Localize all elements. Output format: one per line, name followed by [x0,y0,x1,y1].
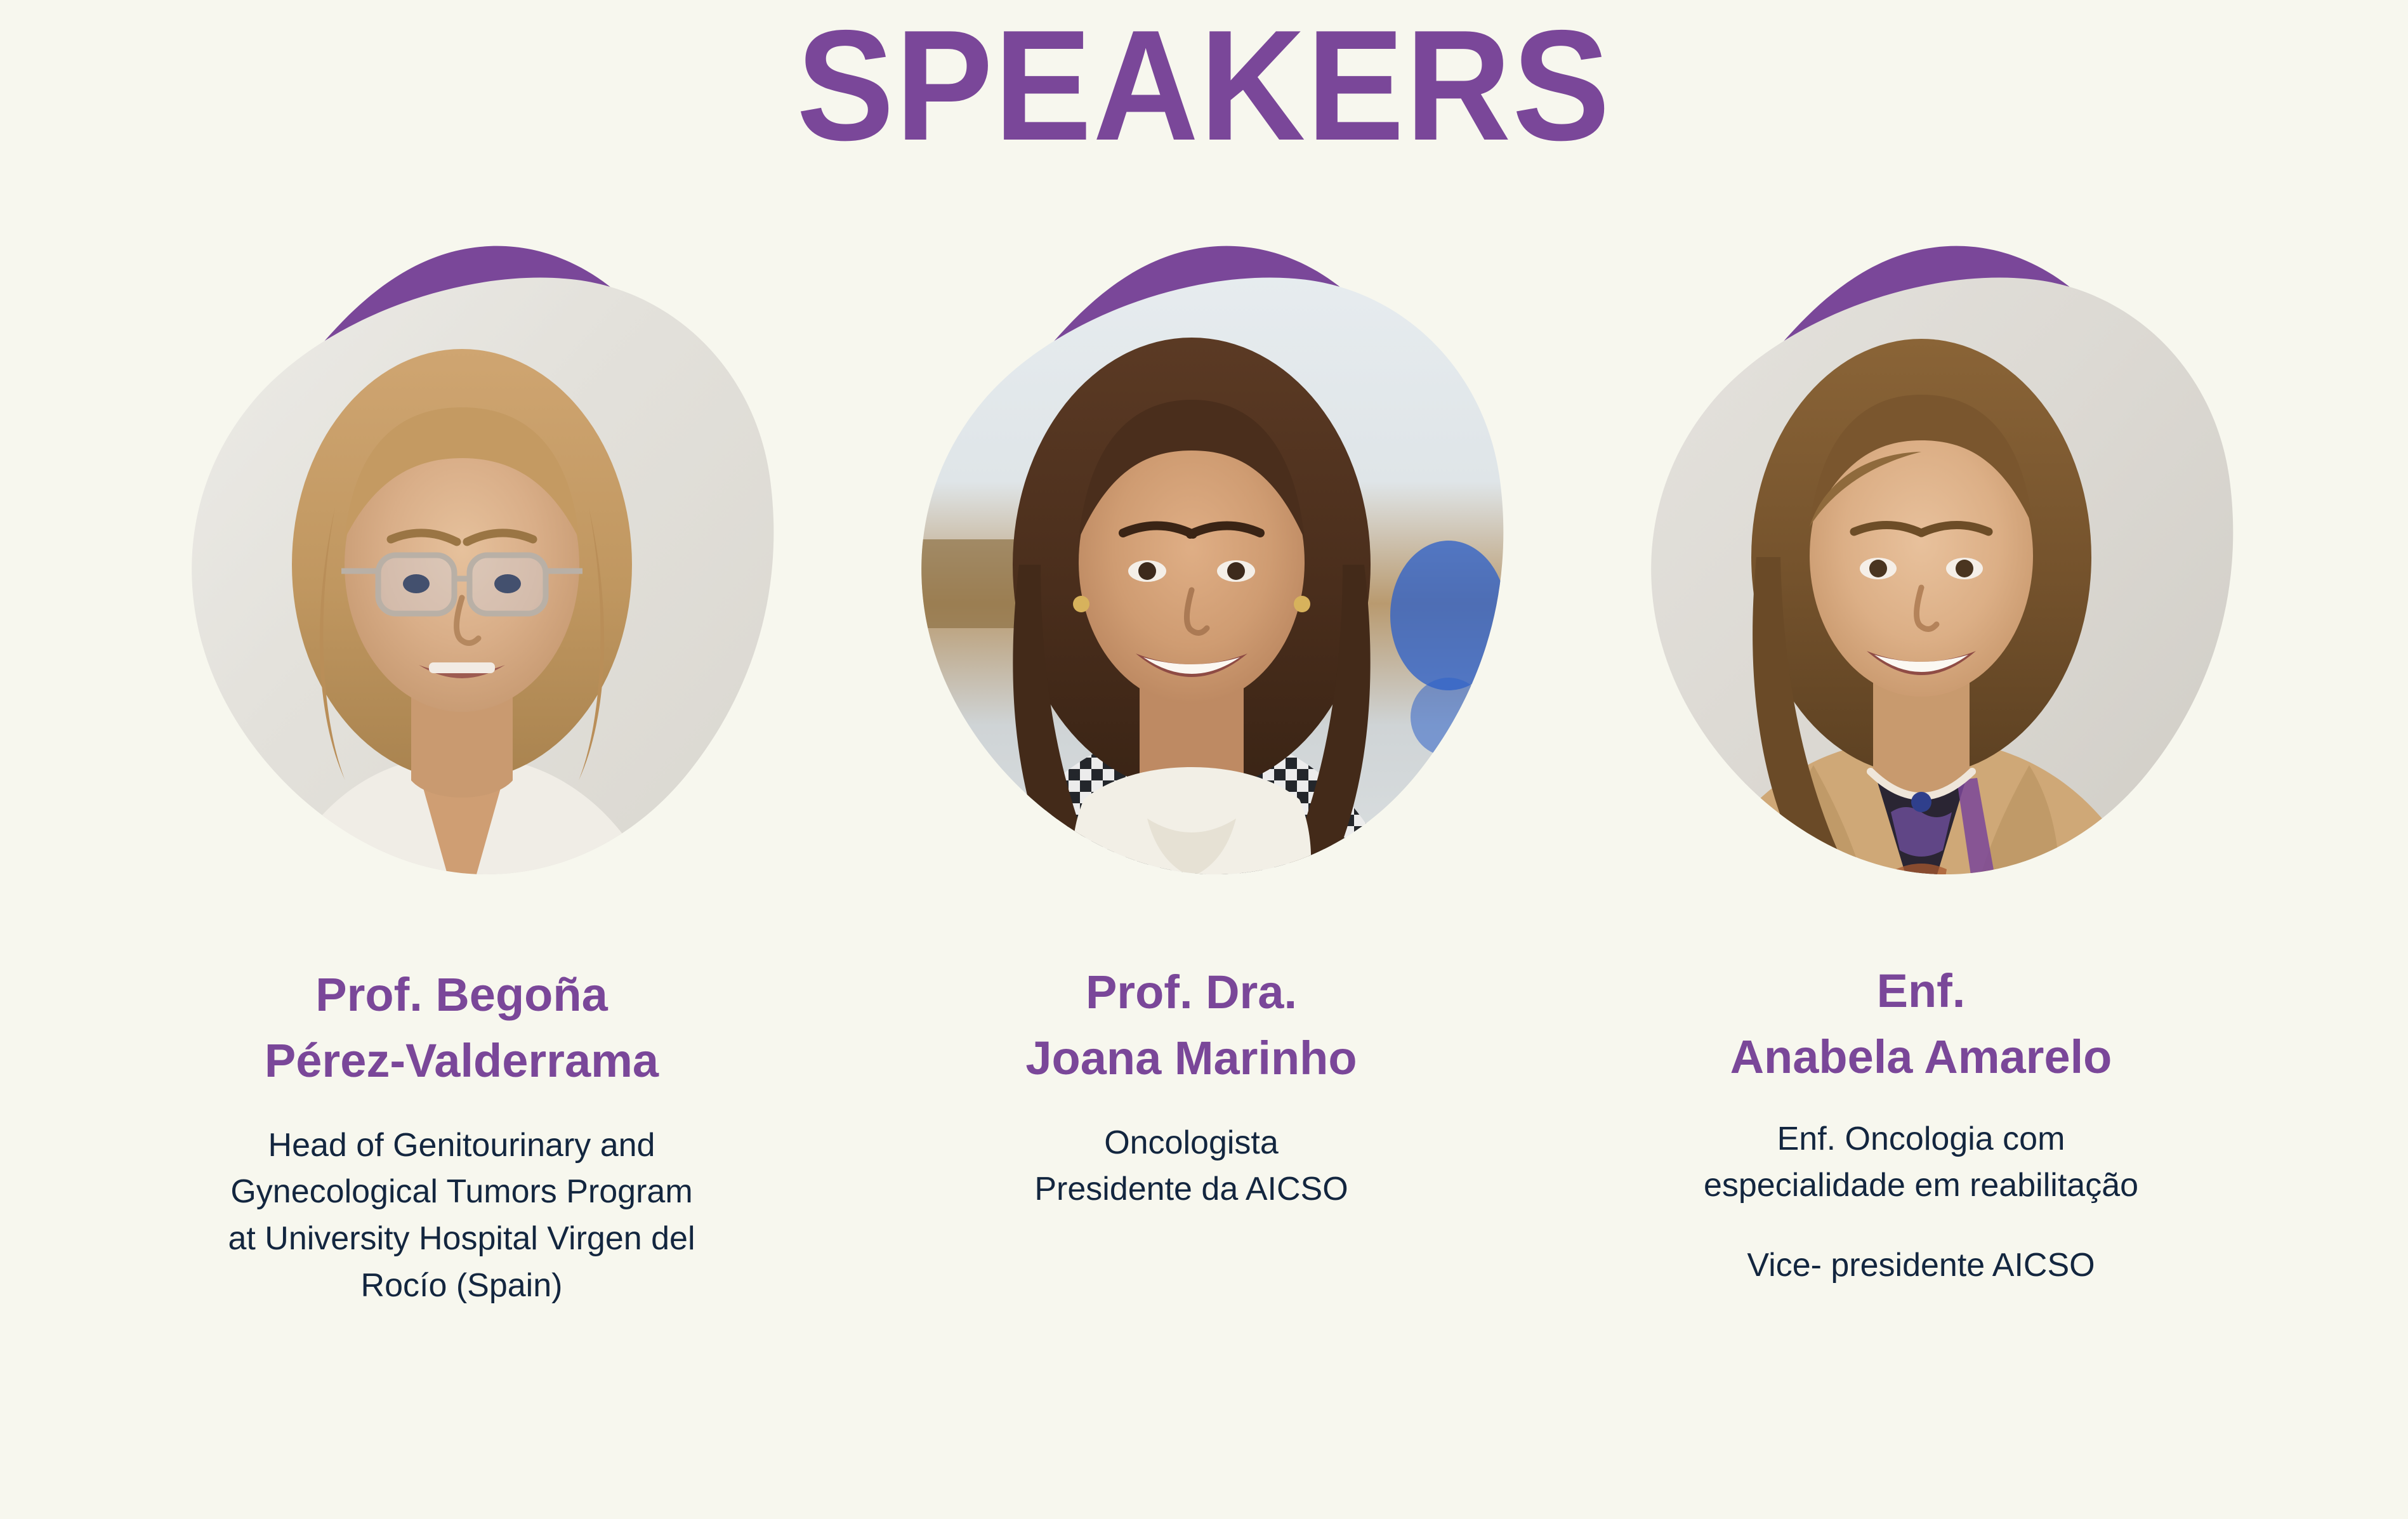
speaker-info-2: Prof. Dra. Joana Marinho Oncologista Pre… [865,959,1518,1213]
speakers-poster: SPEAKERS [0,0,2408,1519]
portrait-photo-2 [874,209,1509,926]
speaker-portrait-2 [874,209,1509,926]
speaker-info-3: Enf. Anabela Amarelo Enf. Oncologia com … [1595,958,2248,1289]
portrait-photo-1 [145,209,779,926]
speaker-name-2: Prof. Dra. Joana Marinho [865,959,1518,1092]
speaker-info-1: Prof. Begoña Pérez-Valderrama Head of Ge… [135,962,789,1310]
page-title-container: SPEAKERS [0,0,2408,165]
speaker-name-3: Enf. Anabela Amarelo [1595,958,2248,1091]
speaker-card-3: Enf. Anabela Amarelo Enf. Oncologia com … [1580,209,2262,1289]
speaker-role-3-1: Vice- presidente AICSO [1595,1242,2248,1289]
speaker-role-1-0: Head of Genitourinary and Gynecological … [135,1122,789,1310]
speaker-role-3-0: Enf. Oncologia com especialidade em reab… [1595,1116,2248,1210]
portrait-blob-svg-1 [145,209,779,926]
portrait-blob-svg-2 [874,209,1509,926]
speaker-portrait-1 [145,209,779,926]
speaker-card-1: Prof. Begoña Pérez-Valderrama Head of Ge… [121,209,803,1310]
speaker-portrait-3 [1604,209,2239,926]
speakers-row: Prof. Begoña Pérez-Valderrama Head of Ge… [0,209,2408,1310]
speaker-card-2: Prof. Dra. Joana Marinho Oncologista Pre… [850,209,1532,1213]
speaker-name-1: Prof. Begoña Pérez-Valderrama [135,962,789,1095]
portrait-photo-3 [1604,209,2239,926]
page-title: SPEAKERS [797,0,1612,166]
speaker-role-2-0: Oncologista Presidente da AICSO [865,1120,1518,1214]
portrait-blob-svg-3 [1604,209,2239,926]
